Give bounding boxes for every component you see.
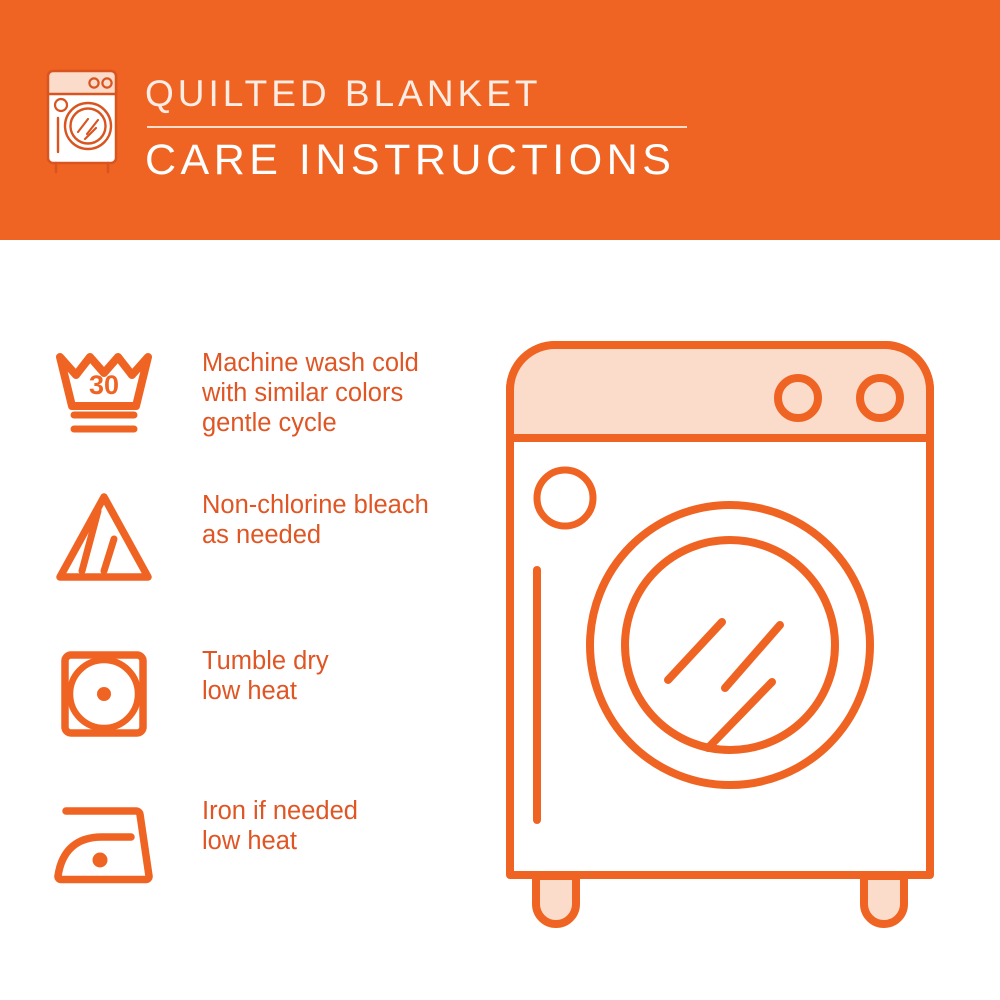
- washing-machine-icon: [44, 68, 120, 176]
- title-block: QUILTED BLANKET CARE INSTRUCTIONS: [145, 70, 705, 186]
- page-title-secondary: CARE INSTRUCTIONS: [145, 134, 705, 186]
- wash-tub-30-gentle-icon: 30: [48, 340, 160, 450]
- leg-right: [864, 876, 904, 924]
- iron-low-heat-icon: [48, 788, 160, 898]
- care-item-text: Machine wash cold with similar colors ge…: [202, 340, 419, 438]
- front-load-washing-machine-illustration: [480, 320, 980, 940]
- control-panel: [510, 345, 930, 438]
- wash-temperature-label: 30: [89, 370, 119, 400]
- care-text-line: low heat: [202, 676, 329, 706]
- care-item-machine-wash: 30 Machine wash cold with similar colors…: [48, 340, 478, 450]
- care-text-line: gentle cycle: [202, 408, 419, 438]
- care-text-line: Non-chlorine bleach: [202, 490, 429, 520]
- care-text-line: Tumble dry: [202, 646, 329, 676]
- care-item-text: Tumble dry low heat: [202, 638, 329, 706]
- care-item-iron: Iron if needed low heat: [48, 788, 478, 898]
- care-item-tumble-dry: Tumble dry low heat: [48, 638, 478, 748]
- care-instructions-page: QUILTED BLANKET CARE INSTRUCTIONS 30 Mac…: [0, 0, 1000, 1000]
- tumble-dry-low-heat-icon: [48, 638, 160, 748]
- care-text-line: Machine wash cold: [202, 348, 419, 378]
- leg-left: [536, 876, 576, 924]
- title-divider: [147, 126, 687, 128]
- care-instruction-list: 30 Machine wash cold with similar colors…: [0, 240, 480, 1000]
- care-text-line: low heat: [202, 826, 358, 856]
- care-text-line: Iron if needed: [202, 796, 358, 826]
- header-banner: QUILTED BLANKET CARE INSTRUCTIONS: [0, 0, 1000, 240]
- care-item-text: Iron if needed low heat: [202, 788, 358, 856]
- page-title-primary: QUILTED BLANKET: [145, 70, 705, 118]
- care-text-line: as needed: [202, 520, 429, 550]
- care-item-text: Non-chlorine bleach as needed: [202, 482, 429, 550]
- care-text-line: with similar colors: [202, 378, 419, 408]
- non-chlorine-bleach-triangle-icon: [48, 482, 160, 592]
- care-item-bleach: Non-chlorine bleach as needed: [48, 482, 478, 592]
